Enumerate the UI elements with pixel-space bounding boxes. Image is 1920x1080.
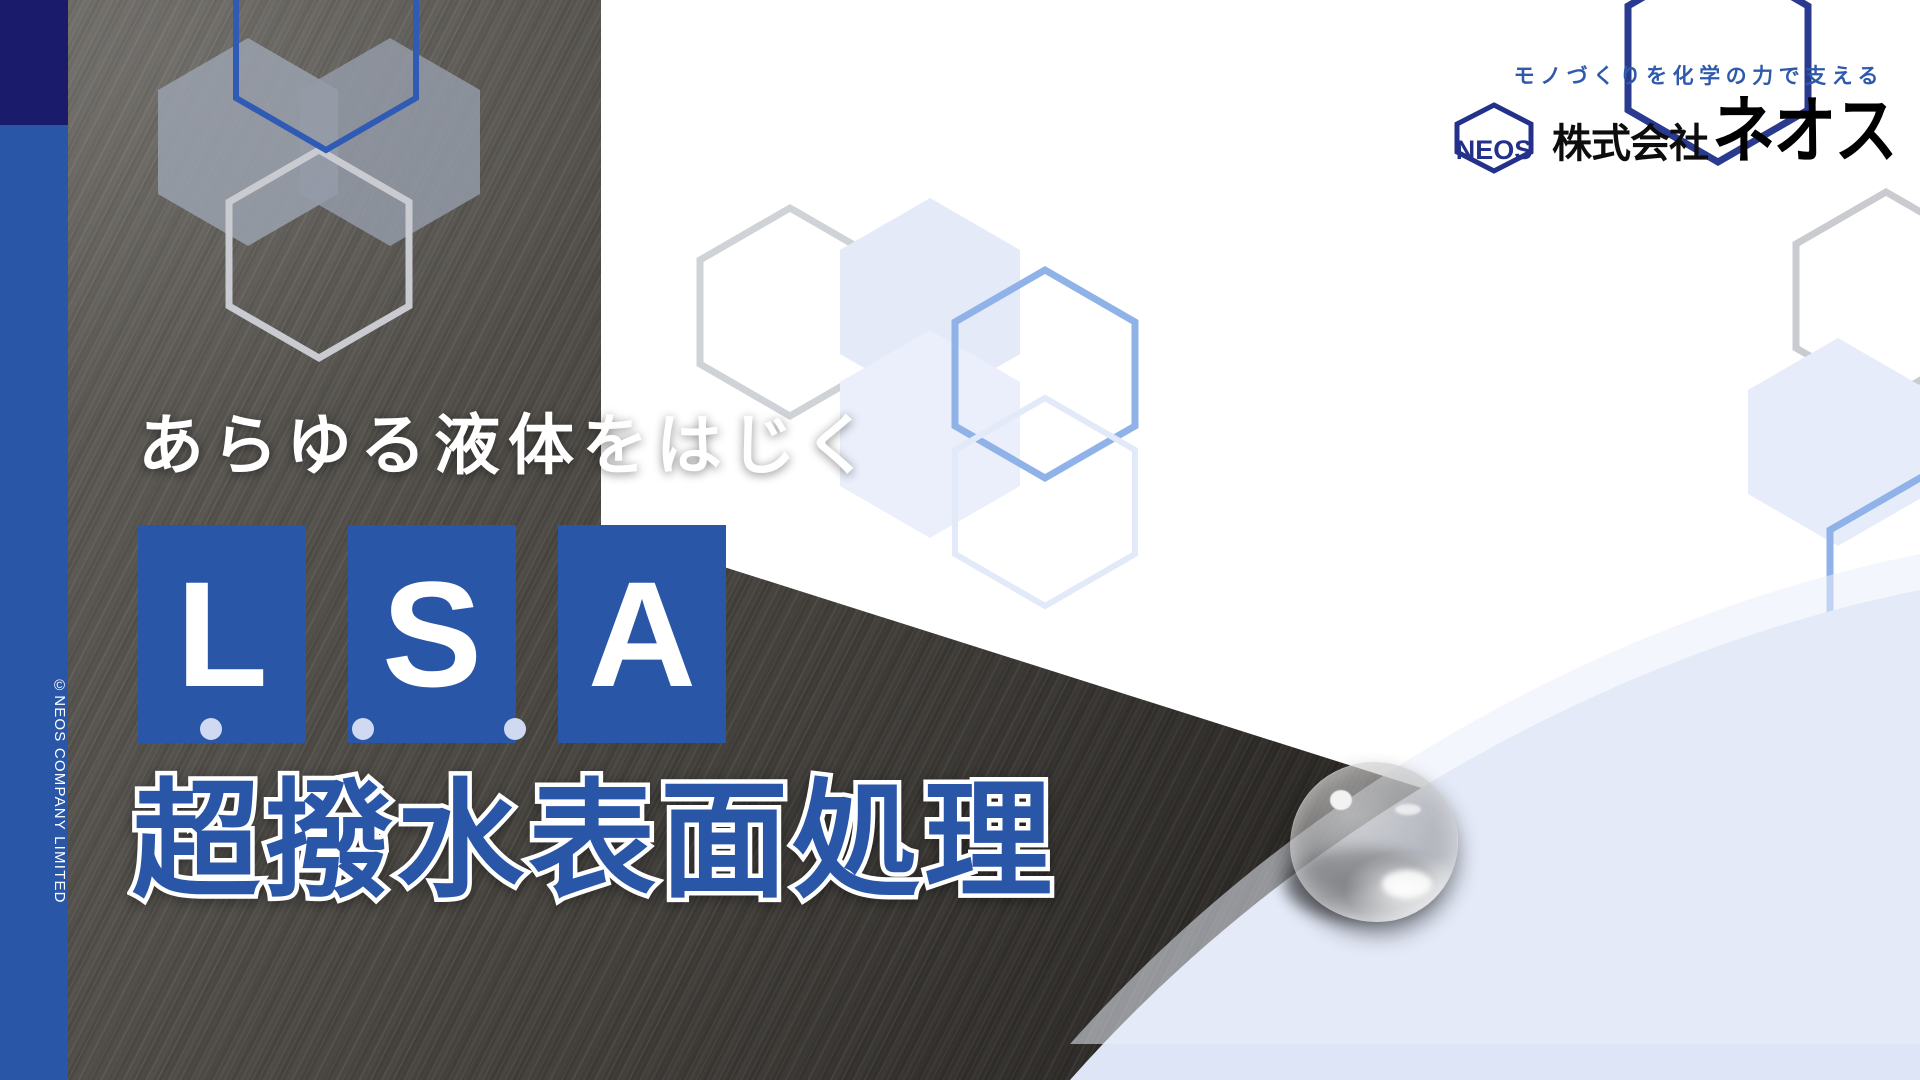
hero-headline: あらゆる液体をはじく [138,392,878,488]
droplet-highlight-caustic [1382,870,1432,898]
hex-filled-pale-blue-right [1748,338,1920,546]
acronym-tile-l: L [138,525,306,743]
separator-dots [200,718,526,740]
brand-logo-block[interactable]: モノづくりを化学の力で支える NEOS 株式会社 ネオス [1450,60,1892,174]
acronym-row: L S A [138,525,726,743]
neos-hexagon-logo-icon: NEOS [1450,102,1538,174]
separator-dot-3 [504,718,526,740]
left-sidebar: ©NEOS COMPANY LIMITED [0,0,68,1080]
droplet-highlight-secondary [1395,804,1421,815]
logo-row: NEOS 株式会社 ネオス [1450,102,1892,174]
slide-canvas: ©NEOS COMPANY LIMITED モノづくりを化学の力で支える NEO… [0,0,1920,1080]
company-prefix: 株式会社 [1552,111,1708,169]
acronym-tile-s: S [348,525,516,743]
sidebar-accent-block [0,0,68,125]
separator-dot-1 [200,718,222,740]
hero-subheadline: 超撥水表面処理 [132,770,1056,913]
droplet-highlight-primary [1330,790,1352,810]
copyright-notice: ©NEOS COMPANY LIMITED [0,560,68,1020]
acronym-tile-a: A [558,525,726,743]
company-name-katakana: ネオス [1712,97,1896,163]
water-droplet-icon [1290,762,1458,922]
separator-dot-2 [352,718,374,740]
neos-mark-text: NEOS [1456,135,1533,165]
droplet-body [1290,762,1458,922]
company-name: 株式会社 ネオス [1552,108,1892,169]
brand-tagline: モノづくりを化学の力で支える [1450,60,1884,90]
